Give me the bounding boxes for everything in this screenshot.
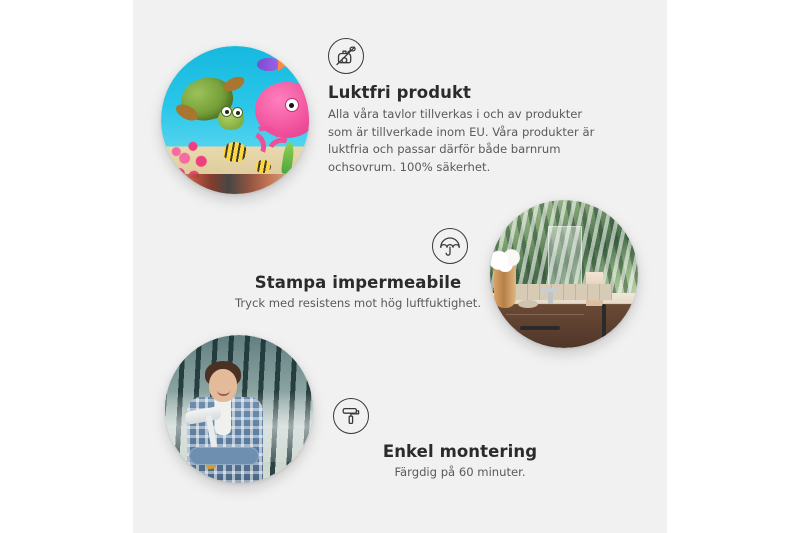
person-crossed-arms — [189, 447, 259, 465]
bathroom-soap-dish — [518, 300, 538, 308]
umbrella-icon — [432, 228, 468, 264]
octopus-eye — [285, 98, 299, 112]
turtle-eye-right — [232, 107, 243, 118]
feature-odor-free: Luktfri produkt Alla våra tavlor tillver… — [328, 38, 628, 176]
underwater-artwork — [161, 46, 309, 194]
bathroom-flowers — [490, 246, 524, 272]
purple-fish — [257, 58, 279, 71]
content-panel: Luktfri produkt Alla våra tavlor tillver… — [133, 0, 667, 533]
feature-title: Stampa impermeabile — [188, 273, 528, 292]
feature-description: Tryck med resistens mot hög luftfuktighe… — [188, 295, 528, 313]
image-underwater-scene[interactable] — [161, 46, 309, 194]
bathroom-mirror — [548, 226, 582, 292]
photo-bottom-strip — [161, 174, 309, 194]
bathroom-door-handle — [602, 304, 606, 342]
no-perfume-icon — [328, 38, 364, 74]
image-woman-paint-roller[interactable] — [165, 335, 313, 483]
image-bathroom-botanical[interactable] — [490, 200, 638, 348]
person-head — [209, 369, 237, 402]
yellow-striped-fish — [223, 142, 247, 162]
bathroom-faucet — [548, 288, 553, 304]
page-canvas: Luktfri produkt Alla våra tavlor tillver… — [0, 0, 800, 533]
yellow-striped-fish-small — [255, 160, 271, 173]
bathroom-artwork — [490, 200, 638, 348]
paint-roller-icon — [333, 398, 369, 434]
turtle-eye-left — [221, 106, 232, 117]
feature-description: Alla våra tavlor tillverkas i och av pro… — [328, 106, 600, 176]
feature-title: Luktfri produkt — [328, 83, 628, 102]
bathroom-drawer-handle — [520, 326, 560, 330]
feature-easy-mounting: Enkel montering Färgdig på 60 minuter. — [325, 398, 595, 482]
feature-title: Enkel montering — [325, 442, 595, 461]
pink-coral — [169, 134, 221, 178]
feature-description: Färgdig på 60 minuter. — [325, 464, 595, 482]
feature-waterproof-print: Stampa impermeabile Tryck med resistens … — [188, 228, 528, 313]
forest-artwork — [165, 335, 313, 483]
bathroom-backsplash-tile — [516, 284, 612, 300]
